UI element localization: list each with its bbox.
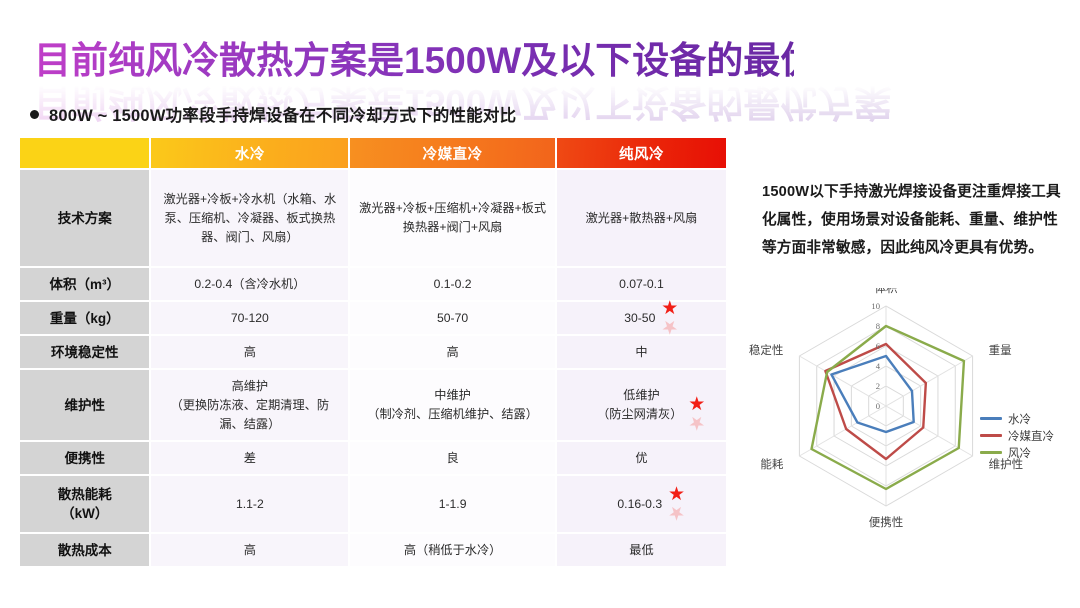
table-cell: 1-1.9 bbox=[350, 476, 555, 532]
table-cell: 优 bbox=[557, 442, 726, 474]
table-cell: 30-50 ★★ bbox=[557, 302, 726, 334]
table-cell: 激光器+冷板+压缩机+冷凝器+板式换热器+阀门+风扇 bbox=[350, 170, 555, 266]
slide-root: 目前纯风冷散热方案是1500W及以下设备的最优方案 目前纯风冷散热方案是1500… bbox=[0, 0, 1080, 608]
table-cell: 最低 bbox=[557, 534, 726, 566]
table-cell: 高 bbox=[151, 336, 348, 368]
table-row-header: 体积（m³） bbox=[20, 268, 149, 300]
table-cell: 高维护（更换防冻液、定期清理、防漏、结露） bbox=[151, 370, 348, 440]
legend-swatch-icon bbox=[980, 451, 1002, 454]
star-icon-reflection: ★ bbox=[661, 317, 679, 335]
radar-tick-label: 4 bbox=[876, 361, 881, 371]
legend-item: 冷媒直冷 bbox=[980, 427, 1080, 444]
legend-item: 风冷 bbox=[980, 444, 1080, 461]
table-row-header: 散热能耗（kW） bbox=[20, 476, 149, 532]
comparison-table: 水冷 冷媒直冷 纯风冷 技术方案激光器+冷板+冷水机（水箱、水泵、压缩机、冷凝器… bbox=[18, 136, 728, 568]
table-cell: 中维护（制冷剂、压缩机维护、结露） bbox=[350, 370, 555, 440]
radar-axis-label: 能耗 bbox=[760, 457, 783, 471]
legend-swatch-icon bbox=[980, 417, 1002, 420]
subtitle-text: 800W ~ 1500W功率段手持焊设备在不同冷却方式下的性能对比 bbox=[49, 102, 516, 126]
table-header-col-refrigerant: 冷媒直冷 bbox=[350, 138, 555, 168]
page-title-text: 目前纯风冷散热方案是1500W及以下设备的最优方案 bbox=[34, 38, 794, 84]
table-cell: 差 bbox=[151, 442, 348, 474]
bullet-dot-icon bbox=[30, 110, 39, 119]
radar-tick-label: 10 bbox=[871, 301, 880, 311]
table-header-col-water: 水冷 bbox=[151, 138, 348, 168]
table-cell: 高（稍低于水冷） bbox=[350, 534, 555, 566]
star-icon: ★ bbox=[668, 486, 686, 504]
radar-axis-label: 便携性 bbox=[869, 515, 904, 529]
table-row: 散热能耗（kW）1.1-21-1.90.16-0.3 ★★ bbox=[20, 476, 726, 532]
radar-spokes bbox=[799, 306, 972, 506]
radar-tick-label: 0 bbox=[876, 401, 880, 411]
table-cell: 0.16-0.3 ★★ bbox=[557, 476, 726, 532]
table-row: 重量（kg）70-12050-7030-50 ★★ bbox=[20, 302, 726, 334]
table-cell: 0.07-0.1 bbox=[557, 268, 726, 300]
table-row-header: 重量（kg） bbox=[20, 302, 149, 334]
table-cell: 高 bbox=[350, 336, 555, 368]
radar-spoke bbox=[886, 356, 973, 406]
table-cell: 低维护（防尘网清灰） ★★ bbox=[557, 370, 726, 440]
page-title: 目前纯风冷散热方案是1500W及以下设备的最优方案 目前纯风冷散热方案是1500… bbox=[34, 38, 794, 100]
table-row-header: 环境稳定性 bbox=[20, 336, 149, 368]
radar-chart: 0246810 体积重量维护性便携性能耗稳定性 水冷冷媒直冷风冷 bbox=[744, 288, 1080, 564]
radar-axis-label: 重量 bbox=[989, 343, 1012, 357]
star-icon-reflection: ★ bbox=[688, 413, 706, 431]
star-icon-reflection: ★ bbox=[668, 503, 686, 521]
radar-axis-label: 体积 bbox=[875, 288, 898, 295]
table-cell: 激光器+冷板+冷水机（水箱、水泵、压缩机、冷凝器、板式换热器、阀门、风扇） bbox=[151, 170, 348, 266]
table-row-header: 维护性 bbox=[20, 370, 149, 440]
radar-tick-labels: 0246810 bbox=[871, 301, 880, 411]
table-header-row: 水冷 冷媒直冷 纯风冷 bbox=[20, 138, 726, 168]
legend-label: 水冷 bbox=[1008, 411, 1031, 427]
radar-axis-label: 稳定性 bbox=[749, 343, 784, 357]
subtitle-bullet: 800W ~ 1500W功率段手持焊设备在不同冷却方式下的性能对比 bbox=[30, 102, 516, 126]
star-icon: ★ bbox=[661, 300, 679, 318]
legend-label: 冷媒直冷 bbox=[1008, 428, 1054, 444]
table-header: 水冷 冷媒直冷 纯风冷 bbox=[20, 138, 726, 168]
table-row-header: 便携性 bbox=[20, 442, 149, 474]
table-row-header: 技术方案 bbox=[20, 170, 149, 266]
table-cell: 激光器+散热器+风扇 bbox=[557, 170, 726, 266]
table-cell: 70-120 bbox=[151, 302, 348, 334]
legend-label: 风冷 bbox=[1008, 445, 1031, 461]
table-cell: 0.2-0.4（含冷水机） bbox=[151, 268, 348, 300]
table-row: 技术方案激光器+冷板+冷水机（水箱、水泵、压缩机、冷凝器、板式换热器、阀门、风扇… bbox=[20, 170, 726, 266]
table-row-header: 散热成本 bbox=[20, 534, 149, 566]
insight-paragraph: 1500W以下手持激光焊接设备更注重焊接工具化属性，使用场景对设备能耗、重量、维… bbox=[762, 178, 1062, 262]
table-row: 维护性高维护（更换防冻液、定期清理、防漏、结露）中维护（制冷剂、压缩机维护、结露… bbox=[20, 370, 726, 440]
table-row: 体积（m³）0.2-0.4（含冷水机）0.1-0.20.07-0.1 bbox=[20, 268, 726, 300]
table-cell: 1.1-2 bbox=[151, 476, 348, 532]
table-cell: 50-70 bbox=[350, 302, 555, 334]
legend-swatch-icon bbox=[980, 434, 1002, 437]
table-body: 技术方案激光器+冷板+冷水机（水箱、水泵、压缩机、冷凝器、板式换热器、阀门、风扇… bbox=[20, 170, 726, 566]
radar-tick-label: 8 bbox=[876, 321, 880, 331]
table-header-col-air: 纯风冷 bbox=[557, 138, 726, 168]
table-cell: 0.1-0.2 bbox=[350, 268, 555, 300]
radar-legend: 水冷冷媒直冷风冷 bbox=[980, 410, 1080, 461]
table-cell: 高 bbox=[151, 534, 348, 566]
table-row: 便携性差良优 bbox=[20, 442, 726, 474]
table-row: 环境稳定性高高中 bbox=[20, 336, 726, 368]
table-row: 散热成本高高（稍低于水冷）最低 bbox=[20, 534, 726, 566]
table-cell: 中 bbox=[557, 336, 726, 368]
radar-tick-label: 2 bbox=[876, 381, 880, 391]
radar-tick-label: 6 bbox=[876, 341, 881, 351]
legend-item: 水冷 bbox=[980, 410, 1080, 427]
table-cell: 良 bbox=[350, 442, 555, 474]
table-header-blank bbox=[20, 138, 149, 168]
